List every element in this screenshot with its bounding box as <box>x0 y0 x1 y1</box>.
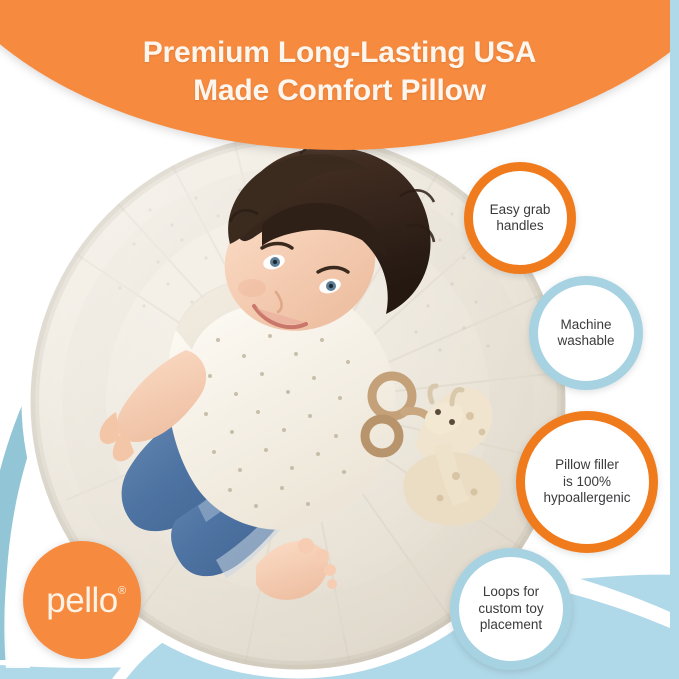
badge-line-1: Loops for <box>478 584 543 600</box>
product-image-canvas: Premium Long-Lasting USA Made Comfort Pi… <box>0 0 679 679</box>
feature-badge-machine-washable[interactable]: Machine washable <box>529 276 643 390</box>
badge-line-2: custom toy <box>478 601 543 617</box>
badge-line-2: washable <box>557 333 614 349</box>
page-title-line-1: Premium Long-Lasting USA <box>0 34 679 72</box>
badge-line-3: hypoallergenic <box>543 490 630 506</box>
feature-badge-hypoallergenic[interactable]: Pillow filler is 100% hypoallergenic <box>516 411 658 553</box>
feature-badge-text: Pillow filler is 100% hypoallergenic <box>535 457 638 506</box>
badge-line-1: Pillow filler <box>543 457 630 473</box>
badge-line-1: Machine <box>557 317 614 333</box>
page-title: Premium Long-Lasting USA Made Comfort Pi… <box>0 34 679 111</box>
badge-line-2: is 100% <box>543 474 630 490</box>
feature-badge-toy-loops[interactable]: Loops for custom toy placement <box>450 548 572 670</box>
badge-line-3: placement <box>478 617 543 633</box>
badge-line-1: Easy grab <box>490 202 551 218</box>
badge-line-2: handles <box>490 218 551 234</box>
feature-badge-easy-grab-handles[interactable]: Easy grab handles <box>464 162 576 274</box>
brand-wordmark: pello <box>46 583 117 618</box>
feature-badge-text: Machine washable <box>549 317 622 350</box>
feature-badge-text: Easy grab handles <box>482 202 559 235</box>
brand-logo[interactable]: pello ® <box>23 541 141 659</box>
registered-trademark-icon: ® <box>118 585 152 597</box>
feature-badge-text: Loops for custom toy placement <box>470 584 551 633</box>
page-title-line-2: Made Comfort Pillow <box>0 72 679 110</box>
right-accent-bar <box>670 0 679 679</box>
